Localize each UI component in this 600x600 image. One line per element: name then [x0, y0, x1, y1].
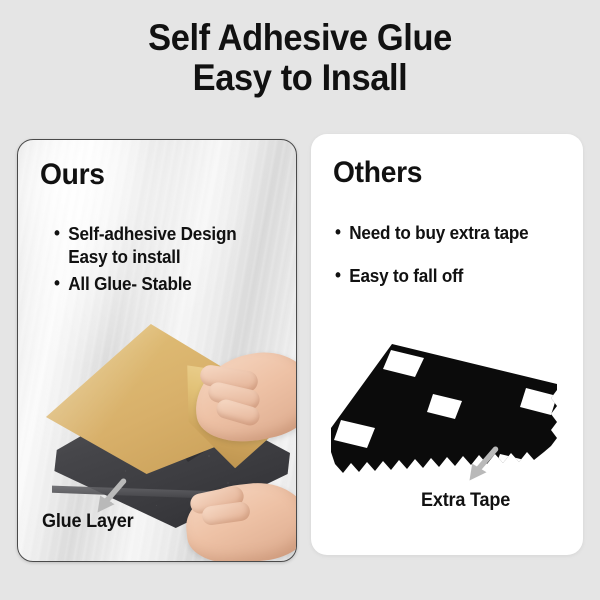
others-drawback-list: Need to buy extra tape Easy to fall off — [335, 222, 583, 307]
page-title-line-1: Self Adhesive Glue — [21, 18, 579, 58]
list-item: Easy to fall off — [335, 265, 573, 288]
others-product-graphic — [329, 332, 569, 507]
arrow-down-left-icon — [466, 446, 500, 482]
others-panel-title: Others — [333, 156, 422, 190]
page-title-line-2: Easy to Insall — [21, 58, 579, 98]
others-panel: Others Need to buy extra tape Easy to fa… — [311, 134, 583, 555]
list-item: Need to buy extra tape — [335, 222, 573, 245]
ours-panel: Ours Self-adhesive Design Easy to instal… — [17, 139, 297, 562]
glue-layer-callout: Glue Layer — [42, 511, 133, 533]
product-comparison-infographic: Self Adhesive Glue Easy to Insall Ours S… — [0, 0, 600, 600]
black-mat-illustration — [329, 332, 569, 507]
arrow-down-left-icon — [94, 478, 128, 514]
list-item: Self-adhesive Design Easy to install — [54, 223, 282, 268]
list-item: All Glue- Stable — [54, 273, 282, 296]
page-title: Self Adhesive Glue Easy to Insall — [21, 18, 579, 98]
ours-benefit-list: Self-adhesive Design Easy to install All… — [54, 223, 294, 301]
ours-panel-title: Ours — [40, 158, 105, 192]
extra-tape-callout: Extra Tape — [421, 490, 510, 512]
